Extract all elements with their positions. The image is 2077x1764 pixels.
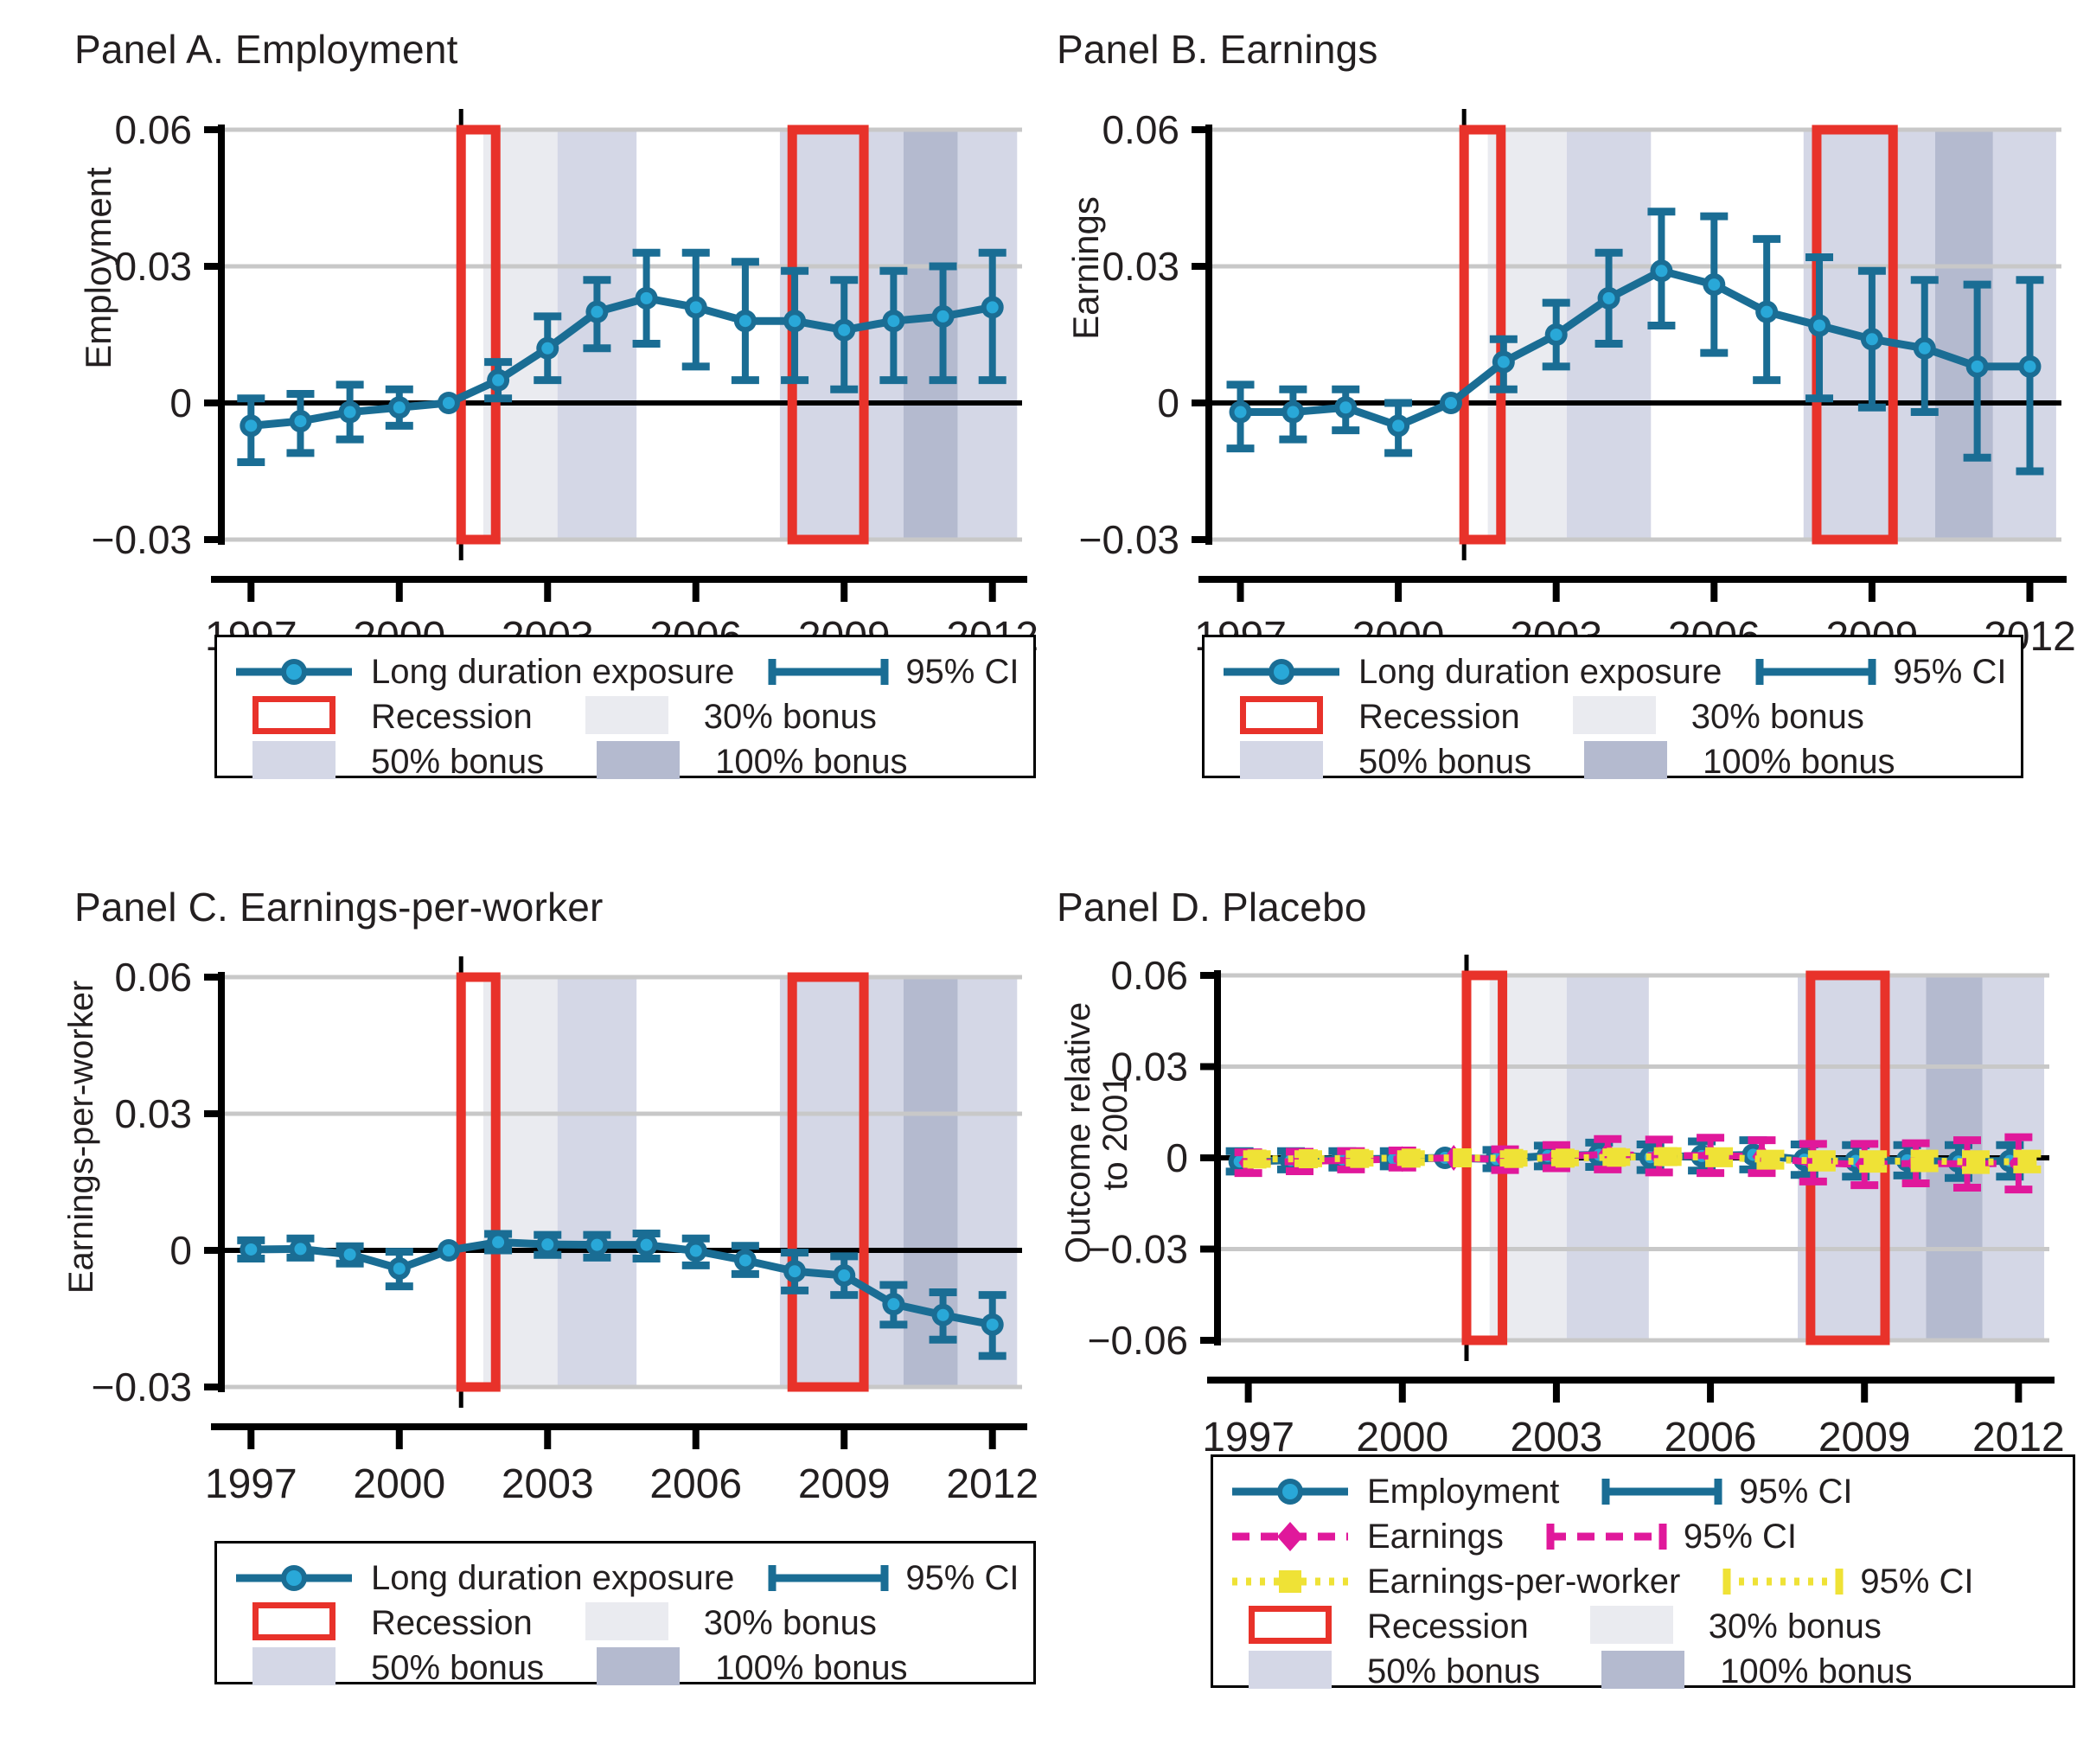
bonus30-legend-swatch <box>1573 696 1656 734</box>
x-tick-label: 2012 <box>946 1461 1038 1507</box>
data-point <box>1607 1147 1626 1166</box>
bonus50-legend-swatch <box>1249 1651 1332 1689</box>
band-bonus50 <box>1993 130 2056 540</box>
bonus100-legend-swatch <box>1601 1651 1684 1689</box>
data-point-inner <box>1972 361 1984 373</box>
data-point-inner <box>838 324 850 336</box>
x-tick-label: 2000 <box>353 1461 445 1507</box>
legend-item-bonus30[interactable]: 30% bonus <box>1567 1606 1882 1648</box>
legend-marker-bonus30 <box>562 696 692 738</box>
legend-row: Earnings95% CI <box>1225 1514 2073 1559</box>
legend-item-bonus100[interactable]: 100% bonus <box>1578 1651 1912 1693</box>
legend-marker-line-circle-teal <box>229 1558 359 1598</box>
y-tick-label: 0 <box>169 380 192 425</box>
legend-item-label: 95% CI <box>1893 653 2006 692</box>
data-point-inner <box>987 301 999 313</box>
legend-item-recession[interactable]: Recession <box>1225 1606 1529 1648</box>
legend-item-label: 30% bonus <box>1709 1607 1882 1646</box>
legend-item-ci1[interactable]: 95% CI <box>1597 1472 1852 1512</box>
band-bonus50 <box>958 130 1018 540</box>
data-point-inner <box>294 1243 306 1255</box>
band-bonus100 <box>904 130 958 540</box>
legend-row: Long duration exposure95% CI <box>1217 649 2021 694</box>
data-point-inner <box>739 1255 751 1267</box>
panel-b-legend: Long duration exposure95% CIRecession30%… <box>1202 635 2023 778</box>
legend-item-label: Long duration exposure <box>1358 653 1722 692</box>
legend-marker-bonus50 <box>1225 1651 1355 1693</box>
legend-body: Long duration exposure95% CIRecession30%… <box>217 637 1033 784</box>
legend-item-recession[interactable]: Recession <box>229 696 533 738</box>
data-point <box>1453 1148 1472 1167</box>
legend-item-label: Recession <box>1367 1607 1529 1646</box>
legend-marker-errorbar-yellow <box>1718 1562 1848 1601</box>
data-point-inner <box>2023 361 2035 373</box>
legend-item-series[interactable]: Long duration exposure <box>1217 652 1722 692</box>
y-tick-label: 0.06 <box>114 955 192 1000</box>
y-tick-label: 0.03 <box>1110 1045 1188 1090</box>
legend-row: Recession30% bonus <box>229 694 1033 739</box>
legend-item-label: 95% CI <box>905 653 1019 692</box>
data-point-inner <box>739 315 751 327</box>
data-point <box>1556 1148 1575 1167</box>
data-point-inner <box>789 315 801 327</box>
legend-marker-bonus100 <box>573 741 703 783</box>
data-point-inner <box>887 1298 899 1310</box>
legend-item-ci[interactable]: 95% CI <box>764 1558 1019 1598</box>
data-point <box>1966 1153 1985 1172</box>
legend-item-epw[interactable]: Earnings-per-worker <box>1225 1562 1680 1601</box>
legend-marker-bonus100 <box>573 1647 703 1690</box>
data-point-inner <box>591 1239 603 1251</box>
data-point-inner <box>1708 278 1720 291</box>
data-point-inner <box>443 397 455 409</box>
legend-item-ci2[interactable]: 95% CI <box>1542 1517 1797 1556</box>
bonus100-legend-swatch <box>597 741 680 779</box>
band-bonus50 <box>558 977 636 1387</box>
legend-body: Long duration exposure95% CIRecession30%… <box>217 1543 1033 1690</box>
data-point-inner <box>1761 306 1773 318</box>
y-tick-label: −0.06 <box>1088 1318 1188 1363</box>
data-point-inner <box>1235 406 1247 419</box>
data-point-inner <box>541 1238 553 1250</box>
data-point-inner <box>1498 356 1510 368</box>
y-tick-label: 0 <box>1166 1135 1188 1180</box>
legend-item-label: 95% CI <box>1739 1473 1852 1512</box>
data-point-inner <box>591 306 603 318</box>
legend-row: 50% bonus100% bonus <box>229 739 1033 784</box>
panel-c: Panel C. Earnings-per-worker Earnings-pe… <box>0 873 1038 1764</box>
data-point-inner <box>344 1249 356 1261</box>
legend-row: Recession30% bonus <box>229 1601 1033 1646</box>
data-point-inner <box>838 1269 850 1281</box>
legend-marker-recession <box>229 1602 359 1645</box>
panel-b: Panel B. Earnings Earnings −0.0300.030.0… <box>1039 0 2077 830</box>
legend-item-bonus100[interactable]: 100% bonus <box>573 741 907 783</box>
recession-legend-swatch <box>252 1602 336 1640</box>
data-point-inner <box>245 1243 257 1256</box>
legend-marker-bonus50 <box>229 741 359 783</box>
y-tick-label: 0.03 <box>1102 244 1179 289</box>
legend-item-bonus50[interactable]: 50% bonus <box>229 1647 544 1690</box>
data-point-inner <box>937 310 949 323</box>
data-point-inner <box>690 301 702 313</box>
data-point <box>2017 1152 2036 1171</box>
data-point-inner <box>294 415 306 427</box>
legend-item-label: Employment <box>1367 1473 1559 1512</box>
legend-marker-dash-diamond-magenta <box>1225 1517 1355 1556</box>
legend-item-label: 95% CI <box>905 1559 1019 1598</box>
legend-item-label: 100% bonus <box>715 743 907 782</box>
legend-body: Long duration exposure95% CIRecession30%… <box>1205 637 2021 784</box>
legend-marker-bonus30 <box>562 1602 692 1645</box>
data-point <box>1658 1147 1678 1166</box>
data-point-inner <box>492 1237 504 1249</box>
legend-item-ci[interactable]: 95% CI <box>1751 652 2006 692</box>
figure-canvas: Panel A. Employment Employment −0.0300.0… <box>0 0 2077 1764</box>
data-point <box>1812 1152 1831 1171</box>
panel-c-plot: −0.0300.030.06199720002003200620092012 <box>0 873 1038 1479</box>
panel-d-plot: −0.06−0.0300.030.06199720002003200620092… <box>1039 873 2077 1427</box>
panel-d: Panel D. Placebo Outcome relative to 200… <box>1039 873 2077 1764</box>
y-tick-label: −0.03 <box>1088 1227 1188 1272</box>
data-point-inner <box>1655 265 1667 277</box>
recession-legend-swatch <box>1240 696 1323 734</box>
legend-item-earnings[interactable]: Earnings <box>1225 1517 1504 1556</box>
y-tick-label: −0.03 <box>92 517 192 562</box>
band-bonus100 <box>1935 130 1993 540</box>
data-point-inner <box>393 1262 406 1275</box>
legend-marker-errorbar-teal <box>764 1558 893 1598</box>
data-point <box>1761 1150 1780 1169</box>
recession-legend-swatch <box>1249 1606 1332 1644</box>
bonus50-legend-swatch <box>252 1647 336 1685</box>
data-point <box>1710 1147 1729 1166</box>
legend-marker-line-circle-teal <box>229 652 359 692</box>
legend-marker-recession <box>229 696 359 738</box>
bonus100-legend-swatch <box>597 1647 680 1685</box>
legend-item-label: 95% CI <box>1684 1518 1797 1556</box>
data-point-inner <box>1866 333 1878 345</box>
data-point <box>1350 1149 1369 1168</box>
legend-marker-errorbar-teal <box>1597 1472 1727 1512</box>
legend-item-label: 100% bonus <box>1720 1652 1912 1691</box>
panel-a-plot: −0.0300.030.06199720002003200620092012 <box>0 0 1038 605</box>
legend-item-label: 30% bonus <box>1691 698 1864 737</box>
legend-item-bonus30[interactable]: 30% bonus <box>1550 696 1864 738</box>
panel-a: Panel A. Employment Employment −0.0300.0… <box>0 0 1038 830</box>
legend-item-series[interactable]: Long duration exposure <box>229 652 734 692</box>
legend-item-recession[interactable]: Recession <box>229 1602 533 1645</box>
data-point-inner <box>541 342 553 355</box>
panel-a-legend: Long duration exposure95% CIRecession30%… <box>214 635 1036 778</box>
bonus-shading-bands <box>483 977 1017 1387</box>
x-tick-label: 2003 <box>502 1461 594 1507</box>
legend-item-label: Earnings-per-worker <box>1367 1563 1680 1601</box>
panel-c-legend: Long duration exposure95% CIRecession30%… <box>214 1541 1036 1684</box>
y-tick-label: 0 <box>169 1228 192 1273</box>
legend-item-label: Recession <box>371 1604 533 1643</box>
data-point-inner <box>641 1239 653 1251</box>
data-point-inner <box>443 1244 455 1256</box>
y-tick-label: 0.06 <box>1110 953 1188 998</box>
legend-item-label: Earnings <box>1367 1518 1504 1556</box>
bonus-shading-bands <box>1488 130 2056 540</box>
legend-item-series[interactable]: Long duration exposure <box>229 1558 734 1598</box>
data-point-inner <box>1603 292 1615 304</box>
legend-marker-bonus30 <box>1550 696 1679 738</box>
bonus30-legend-swatch <box>585 696 668 734</box>
legend-item-bonus100[interactable]: 100% bonus <box>1561 741 1895 783</box>
data-point-inner <box>1392 419 1404 431</box>
legend-marker-recession <box>1217 696 1346 738</box>
legend-row: Recession30% bonus <box>1225 1604 2073 1649</box>
data-point <box>1863 1152 1882 1171</box>
data-point-inner <box>1445 397 1457 409</box>
legend-row: Long duration exposure95% CI <box>229 649 1033 694</box>
y-tick-label: −0.03 <box>92 1365 192 1409</box>
data-point-inner <box>937 1309 949 1321</box>
legend-item-label: 100% bonus <box>715 1649 907 1688</box>
legend-row: 50% bonus100% bonus <box>229 1646 1033 1690</box>
data-point-inner <box>789 1265 801 1277</box>
legend-marker-recession <box>1225 1606 1355 1648</box>
data-point-inner <box>1339 401 1352 413</box>
bonus50-legend-swatch <box>1240 741 1323 779</box>
data-point-inner <box>245 419 257 431</box>
legend-row: Long duration exposure95% CI <box>229 1556 1033 1601</box>
legend-item-recession[interactable]: Recession <box>1217 696 1520 738</box>
panel-b-plot: −0.0300.030.06199720002003200620092012 <box>1039 0 2077 605</box>
legend-item-label: Long duration exposure <box>371 653 734 692</box>
legend-item-ci3[interactable]: 95% CI <box>1718 1562 1973 1601</box>
data-point-inner <box>1919 342 1931 355</box>
legend-row: 50% bonus100% bonus <box>1217 739 2021 784</box>
bonus30-legend-swatch <box>1590 1606 1673 1644</box>
legend-item-label: 50% bonus <box>1367 1652 1540 1691</box>
legend-item-label: 30% bonus <box>704 1604 877 1643</box>
legend-marker-bonus100 <box>1561 741 1690 783</box>
legend-body: Employment95% CIEarnings95% CIEarnings-p… <box>1213 1457 2073 1694</box>
legend-item-label: Recession <box>1358 698 1520 737</box>
legend-item-bonus50[interactable]: 50% bonus <box>229 741 544 783</box>
legend-item-bonus30[interactable]: 30% bonus <box>562 1602 877 1645</box>
legend-marker-errorbar-teal <box>1751 652 1881 692</box>
band-bonus100 <box>904 977 958 1387</box>
legend-item-label: 50% bonus <box>371 743 544 782</box>
data-point-inner <box>641 292 653 304</box>
legend-marker-errorbar-magenta <box>1542 1517 1671 1556</box>
legend-item-bonus100[interactable]: 100% bonus <box>573 1647 907 1690</box>
data-point-inner <box>1550 329 1563 341</box>
legend-marker-bonus50 <box>229 1647 359 1690</box>
x-tick-label: 1997 <box>205 1461 297 1507</box>
y-tick-label: −0.03 <box>1079 517 1179 562</box>
legend-item-label: Long duration exposure <box>371 1559 734 1598</box>
legend-row: Employment95% CI <box>1225 1469 2073 1514</box>
data-point-inner <box>344 406 356 419</box>
y-tick-label: 0.06 <box>1102 107 1179 152</box>
legend-row: 50% bonus100% bonus <box>1225 1649 2073 1694</box>
data-point-inner <box>987 1319 999 1331</box>
bonus50-legend-swatch <box>252 741 336 779</box>
legend-marker-bonus30 <box>1567 1606 1697 1648</box>
legend-row: Recession30% bonus <box>1217 694 2021 739</box>
bonus100-legend-swatch <box>1584 741 1667 779</box>
data-point <box>1915 1152 1934 1171</box>
recession-legend-swatch <box>252 696 336 734</box>
data-point-inner <box>690 1245 702 1257</box>
legend-item-label: 100% bonus <box>1703 743 1895 782</box>
legend-item-label: 50% bonus <box>371 1649 544 1688</box>
legend-item-bonus50[interactable]: 50% bonus <box>1225 1651 1540 1693</box>
legend-marker-line-circle-teal <box>1225 1472 1355 1512</box>
legend-row: Earnings-per-worker95% CI <box>1225 1559 2073 1604</box>
y-tick-label: 0 <box>1157 380 1179 425</box>
data-point-inner <box>393 401 406 413</box>
data-point <box>1402 1148 1421 1167</box>
bonus30-legend-swatch <box>585 1602 668 1640</box>
legend-marker-bonus50 <box>1217 741 1346 783</box>
legend-marker-bonus100 <box>1578 1651 1708 1693</box>
legend-item-bonus50[interactable]: 50% bonus <box>1217 741 1531 783</box>
y-tick-label: 0.03 <box>114 1091 192 1136</box>
legend-item-label: 95% CI <box>1860 1563 1973 1601</box>
legend-item-employment[interactable]: Employment <box>1225 1472 1559 1512</box>
legend-marker-dot-square-yellow <box>1225 1562 1355 1601</box>
legend-item-label: Recession <box>371 698 533 737</box>
legend-marker-line-circle-teal <box>1217 652 1346 692</box>
legend-item-label: 50% bonus <box>1358 743 1531 782</box>
x-tick-label: 2009 <box>798 1461 891 1507</box>
legend-item-label: 30% bonus <box>704 698 877 737</box>
legend-marker-errorbar-teal <box>764 652 893 692</box>
legend-item-bonus30[interactable]: 30% bonus <box>562 696 877 738</box>
y-tick-label: 0.06 <box>114 107 192 152</box>
data-point-inner <box>887 315 899 327</box>
data-point <box>1248 1149 1267 1168</box>
data-point-inner <box>492 374 504 387</box>
data-point <box>1299 1149 1318 1168</box>
x-tick-label: 2006 <box>649 1461 742 1507</box>
legend-item-ci[interactable]: 95% CI <box>764 652 1019 692</box>
data-point-inner <box>1813 319 1825 331</box>
panel-d-legend: Employment95% CIEarnings95% CIEarnings-p… <box>1211 1454 2075 1688</box>
data-point <box>1505 1149 1524 1168</box>
data-point-inner <box>1287 406 1299 419</box>
y-tick-label: 0.03 <box>114 244 192 289</box>
